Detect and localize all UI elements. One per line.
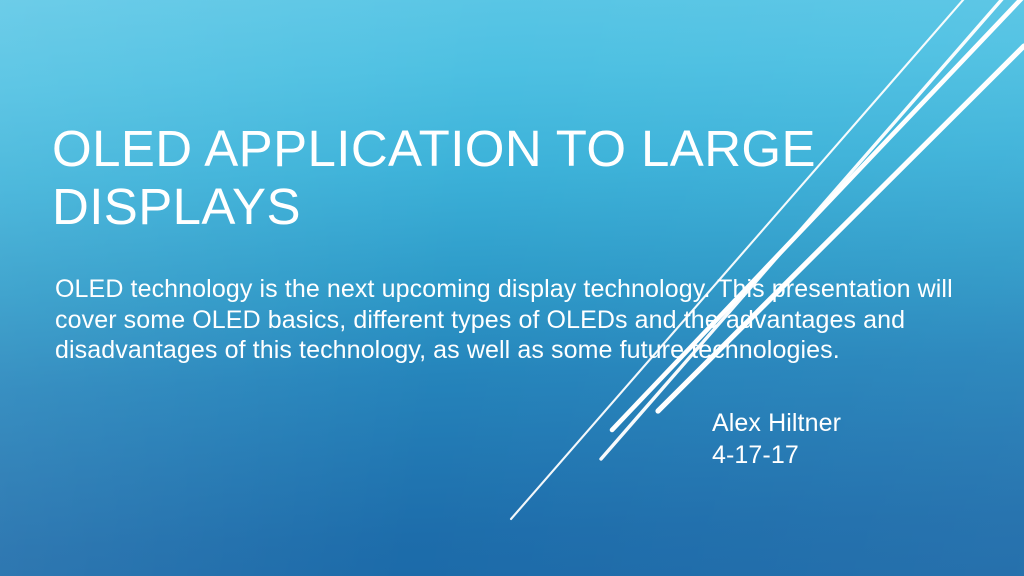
slide-body-text: OLED technology is the next upcoming dis… [55,274,990,366]
author-name: Alex Hiltner [712,407,841,439]
presentation-slide: OLED Application to Large Displays OLED … [0,0,1024,576]
presentation-date: 4-17-17 [712,439,841,471]
slide-title: OLED Application to Large Displays [52,120,852,236]
author-block: Alex Hiltner 4-17-17 [712,407,841,471]
